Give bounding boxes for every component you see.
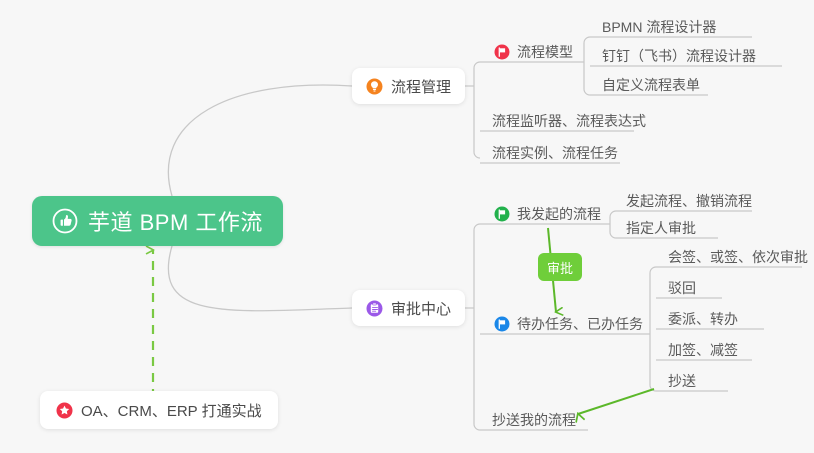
approval-badge[interactable]: 审批 <box>538 253 582 281</box>
node-process-model[interactable]: 流程模型 <box>494 36 573 62</box>
node-todo-done-tasks[interactable]: 待办任务、已办任务 <box>494 308 643 334</box>
node-process-listener-expression[interactable]: 流程监听器、流程表达式 <box>492 105 646 131</box>
node-label-cc: 抄送 <box>668 374 696 388</box>
node-cc[interactable]: 抄送 <box>668 365 696 391</box>
flag-blue-icon <box>494 316 510 332</box>
node-bpmn-designer[interactable]: BPMN 流程设计器 <box>602 11 716 37</box>
root-node[interactable]: 芋道 BPM 工作流 <box>32 196 283 246</box>
node-label-assignee-approval: 指定人审批 <box>626 221 696 235</box>
node-label-todo-done-tasks: 待办任务、已办任务 <box>517 317 643 331</box>
branch-node-process-management[interactable]: 流程管理 <box>352 68 465 104</box>
node-assignee-approval[interactable]: 指定人审批 <box>626 212 696 238</box>
node-countersign[interactable]: 会签、或签、依次审批 <box>668 241 808 267</box>
connector-todo-bracket <box>650 267 656 391</box>
node-add-remove-sign[interactable]: 加签、减签 <box>668 334 738 360</box>
flag-green-icon <box>494 206 510 222</box>
node-label-process-listener-expression: 流程监听器、流程表达式 <box>492 114 646 128</box>
branch-label-process-management: 流程管理 <box>391 76 451 97</box>
branch-label-approval-center: 审批中心 <box>391 298 451 319</box>
node-label-dingtalk-feishu-designer: 钉钉（飞书）流程设计器 <box>602 49 756 63</box>
arrow-cc-to-cc-my-process <box>578 389 654 414</box>
node-dingtalk-feishu-designer[interactable]: 钉钉（飞书）流程设计器 <box>602 40 756 66</box>
node-label-custom-process-form: 自定义流程表单 <box>602 78 700 92</box>
node-custom-process-form[interactable]: 自定义流程表单 <box>602 69 700 95</box>
node-label-reject: 驳回 <box>668 281 696 295</box>
floating-note-label: OA、CRM、ERP 打通实战 <box>81 400 262 421</box>
node-label-start-cancel-process: 发起流程、撤销流程 <box>626 194 752 208</box>
lightbulb-icon <box>366 78 383 95</box>
connector-root-to-process-management <box>168 85 352 196</box>
node-cc-to-me-process[interactable]: 抄送我的流程 <box>492 404 576 430</box>
connector-ac-bracket <box>474 224 480 430</box>
node-label-my-initiated-process: 我发起的流程 <box>517 207 601 221</box>
flag-red-icon <box>494 44 510 60</box>
node-my-initiated-process[interactable]: 我发起的流程 <box>494 198 601 224</box>
connector-root-to-approval-center <box>168 246 352 311</box>
node-label-countersign: 会签、或签、依次审批 <box>668 250 808 264</box>
approval-badge-label: 审批 <box>547 258 573 277</box>
star-icon <box>56 402 73 419</box>
node-label-process-model: 流程模型 <box>517 45 573 59</box>
thumbs-up-icon <box>52 208 78 234</box>
floating-note-node[interactable]: OA、CRM、ERP 打通实战 <box>40 391 278 429</box>
node-delegate-transfer[interactable]: 委派、转办 <box>668 303 738 329</box>
clipboard-icon <box>366 300 383 317</box>
node-start-cancel-process[interactable]: 发起流程、撤销流程 <box>626 185 752 211</box>
connector-mine-bracket <box>610 211 616 238</box>
connector-pm-bracket <box>474 62 480 158</box>
node-reject[interactable]: 驳回 <box>668 272 696 298</box>
node-label-bpmn-designer: BPMN 流程设计器 <box>602 20 716 34</box>
node-process-instance-task[interactable]: 流程实例、流程任务 <box>492 137 618 163</box>
connector-pmodel-bracket <box>584 37 590 95</box>
node-label-add-remove-sign: 加签、减签 <box>668 343 738 357</box>
branch-node-approval-center[interactable]: 审批中心 <box>352 290 465 326</box>
mindmap-canvas: 芋道 BPM 工作流 OA、CRM、ERP 打通实战 流程管理 <box>0 0 814 453</box>
node-label-process-instance-task: 流程实例、流程任务 <box>492 146 618 160</box>
node-label-delegate-transfer: 委派、转办 <box>668 312 738 326</box>
node-label-cc-to-me-process: 抄送我的流程 <box>492 413 576 427</box>
root-label: 芋道 BPM 工作流 <box>88 205 263 237</box>
